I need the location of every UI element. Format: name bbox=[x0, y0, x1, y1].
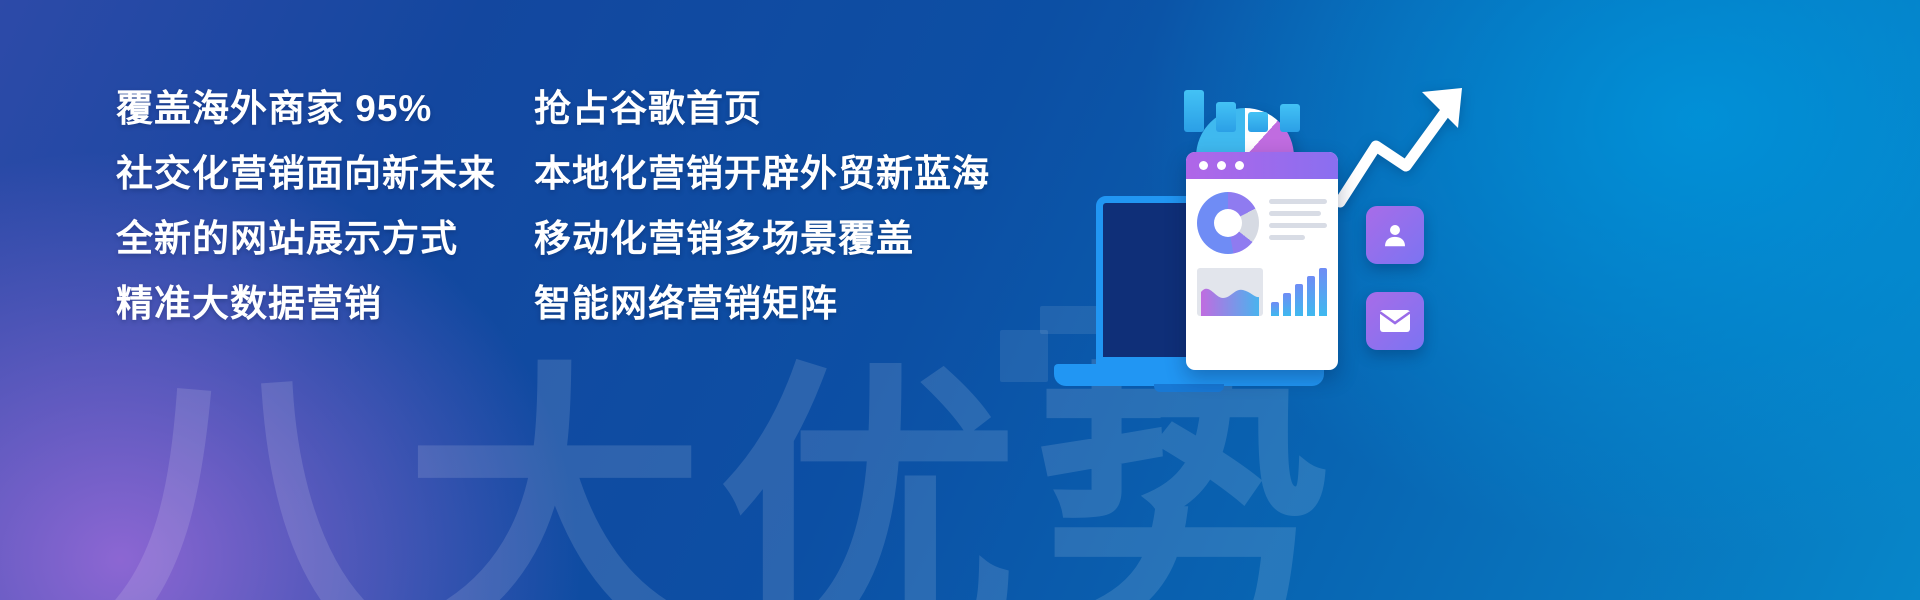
bar-chart-bar bbox=[1280, 104, 1300, 132]
list-item: 精准大数据营销 智能网络营销矩阵 bbox=[116, 267, 1016, 332]
placeholder-line bbox=[1269, 235, 1305, 240]
advantage-text: 智能网络营销矩阵 bbox=[534, 273, 1004, 327]
donut-chart-icon bbox=[1197, 192, 1259, 254]
bar-chart-bar bbox=[1307, 276, 1315, 316]
window-dot-icon bbox=[1217, 161, 1226, 170]
bar-chart-bar bbox=[1184, 90, 1204, 132]
laptop-notch bbox=[1154, 384, 1224, 392]
avatar-badge-icon bbox=[1366, 206, 1424, 264]
advantages-list: 覆盖海外商家 95% 抢占谷歌首页 社交化营销面向新未来 本地化营销开辟外贸新蓝… bbox=[116, 72, 1016, 332]
window-dot-icon bbox=[1199, 161, 1208, 170]
bar-chart-bar bbox=[1216, 102, 1236, 132]
bar-chart-bar bbox=[1283, 293, 1291, 316]
advantage-text: 抢占谷歌首页 bbox=[534, 78, 1004, 132]
growth-arrow-icon bbox=[1336, 80, 1476, 213]
mini-bar-chart-icon bbox=[1271, 268, 1327, 316]
bar-chart-bar bbox=[1295, 284, 1303, 316]
advantage-text: 社交化营销面向新未来 bbox=[116, 143, 534, 197]
advantage-text: 移动化营销多场景覆盖 bbox=[534, 208, 1004, 262]
bar-chart-bar bbox=[1271, 302, 1279, 316]
bar-chart-bar bbox=[1248, 112, 1268, 132]
promo-banner: 八大优势 覆盖海外商家 95% 抢占谷歌首页 社交化营销面向新未来 本地化营销开… bbox=[0, 0, 1920, 600]
list-item: 覆盖海外商家 95% 抢占谷歌首页 bbox=[116, 72, 1016, 137]
list-item: 全新的网站展示方式 移动化营销多场景覆盖 bbox=[116, 202, 1016, 267]
placeholder-line bbox=[1269, 223, 1327, 228]
card-body bbox=[1186, 179, 1338, 254]
window-dot-icon bbox=[1235, 161, 1244, 170]
advantage-text: 精准大数据营销 bbox=[116, 273, 534, 327]
list-item: 社交化营销面向新未来 本地化营销开辟外贸新蓝海 bbox=[116, 137, 1016, 202]
advantage-text: 本地化营销开辟外贸新蓝海 bbox=[534, 143, 1004, 197]
envelope-badge-icon bbox=[1366, 292, 1424, 350]
card-charts-row bbox=[1186, 254, 1338, 316]
advantage-text: 全新的网站展示方式 bbox=[116, 208, 534, 262]
placeholder-line bbox=[1269, 211, 1321, 216]
card-titlebar bbox=[1186, 152, 1338, 179]
marketing-illustration bbox=[1000, 40, 1560, 440]
placeholder-line bbox=[1269, 199, 1327, 204]
area-chart-icon bbox=[1197, 268, 1263, 316]
bar-chart-bar bbox=[1319, 268, 1327, 316]
text-placeholder-lines bbox=[1269, 192, 1327, 254]
advantage-text: 覆盖海外商家 95% bbox=[116, 78, 534, 132]
decor-block bbox=[1000, 330, 1048, 382]
dashboard-card bbox=[1186, 152, 1338, 370]
